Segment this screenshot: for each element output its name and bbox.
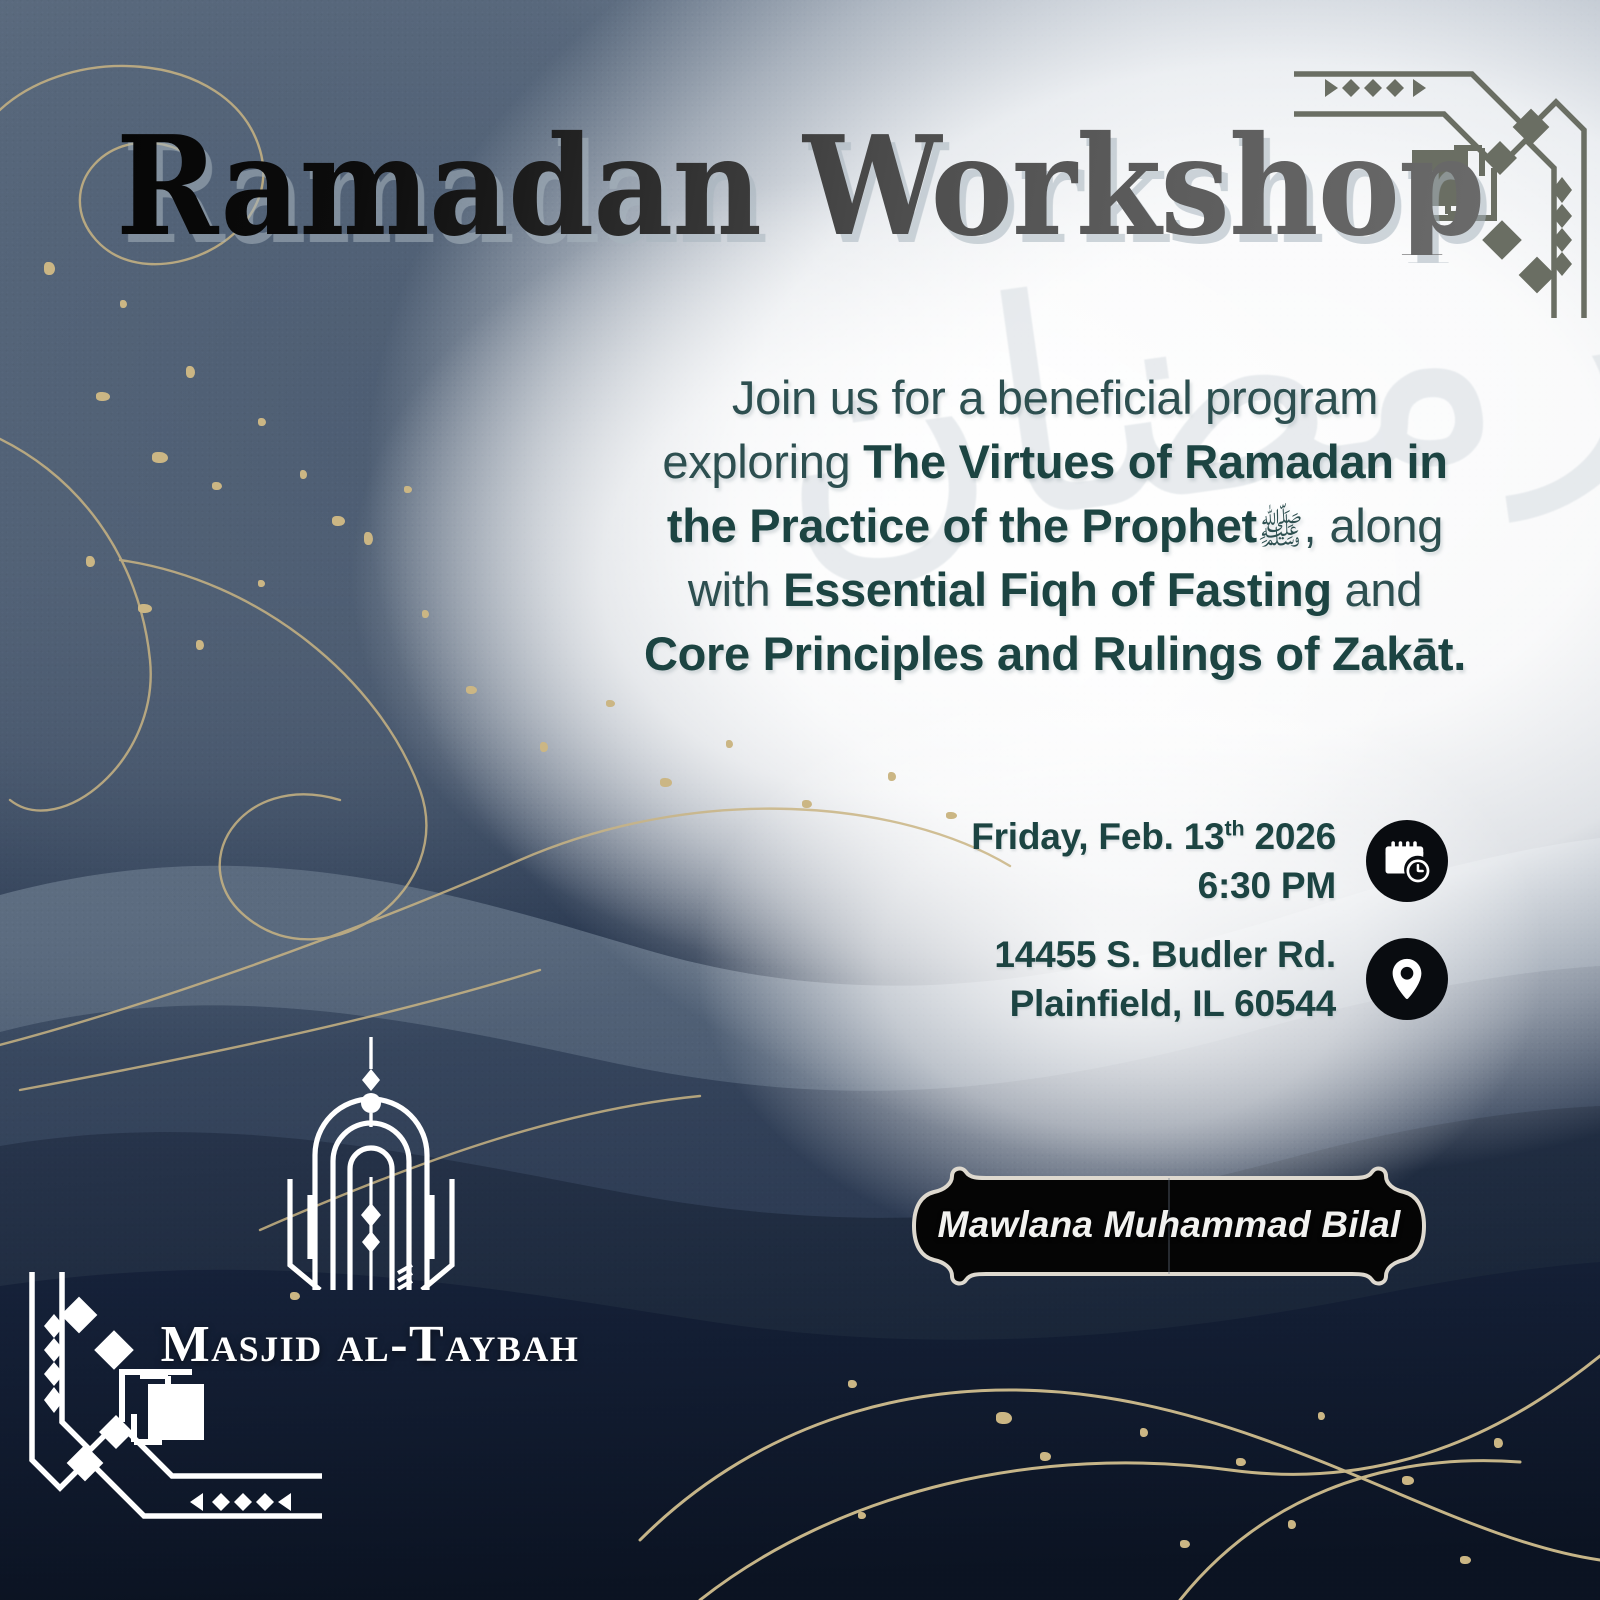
- event-datetime-row: Friday, Feb. 13th 2026 6:30 PM: [900, 812, 1448, 910]
- speaker-plaque: Mawlana Muhammad Bilal: [896, 1162, 1442, 1290]
- event-description: Join us for a beneficial program explori…: [640, 366, 1470, 686]
- organization-name: Masjid al-Taybah: [100, 1315, 640, 1374]
- sallallahu-alayhi-wasallam-icon: ﷺ: [1257, 508, 1304, 553]
- calendar-clock-icon-badge: [1366, 820, 1448, 902]
- event-date-year: 2026: [1244, 816, 1336, 857]
- poster-title: Ramadan Workshop: [116, 118, 1484, 255]
- ramadan-workshop-flyer: رمضان: [0, 0, 1600, 1600]
- poster-title-container: Ramadan Workshop: [0, 118, 1600, 255]
- event-time: 6:30 PM: [971, 861, 1336, 910]
- calendar-clock-icon: [1382, 836, 1432, 886]
- description-connector-2: and: [1332, 563, 1422, 616]
- map-pin-icon: [1384, 956, 1430, 1002]
- description-topic-3: Core Principles and Rulings of Zakāt.: [644, 627, 1466, 680]
- event-date-ordinal: th: [1225, 817, 1245, 841]
- event-address-text: 14455 S. Budler Rd. Plainfield, IL 60544: [994, 930, 1336, 1028]
- event-date-prefix: Friday, Feb. 13: [971, 816, 1224, 857]
- event-date: Friday, Feb. 13th 2026: [971, 812, 1336, 861]
- description-line-1: Join us for a beneficial program: [732, 371, 1378, 424]
- event-location-row: 14455 S. Budler Rd. Plainfield, IL 60544: [900, 930, 1448, 1028]
- event-datetime-text: Friday, Feb. 13th 2026 6:30 PM: [971, 812, 1336, 910]
- speaker-name: Mawlana Muhammad Bilal: [896, 1162, 1442, 1290]
- map-pin-icon-badge: [1366, 938, 1448, 1020]
- address-line-2: Plainfield, IL 60544: [994, 979, 1336, 1028]
- description-topic-2: Essential Fiqh of Fasting: [783, 563, 1332, 616]
- mosque-minaret-logo-icon: [286, 1035, 456, 1290]
- description-line-2: exploring: [662, 435, 863, 488]
- address-line-1: 14455 S. Budler Rd.: [994, 930, 1336, 979]
